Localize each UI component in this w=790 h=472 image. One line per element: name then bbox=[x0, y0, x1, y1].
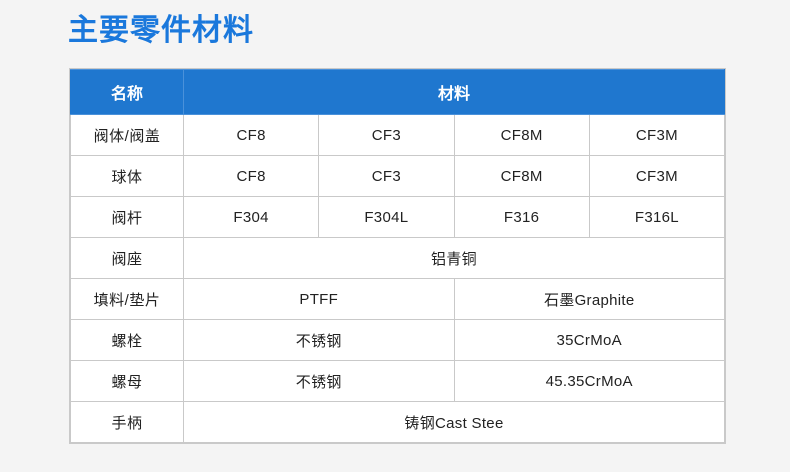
table-row: 阀座铝青铜 bbox=[71, 238, 725, 279]
table-row: 螺栓不锈钢35CrMoA bbox=[71, 320, 725, 361]
material-cell: PTFF bbox=[184, 279, 455, 320]
table-row: 球体CF8CF3CF8MCF3M bbox=[71, 156, 725, 197]
material-cell: F304 bbox=[184, 197, 319, 238]
material-cell: 铝青铜 bbox=[184, 238, 725, 279]
column-header-material: 材料 bbox=[184, 70, 725, 115]
material-cell: 35CrMoA bbox=[454, 320, 725, 361]
row-label: 手柄 bbox=[71, 402, 184, 443]
material-cell: F316L bbox=[589, 197, 724, 238]
material-cell: CF8M bbox=[454, 115, 589, 156]
material-cell: CF3 bbox=[319, 115, 454, 156]
page-title: 主要零件材料 bbox=[68, 12, 254, 50]
table-row: 填料/垫片PTFF石墨Graphite bbox=[71, 279, 725, 320]
material-cell: CF8 bbox=[184, 156, 319, 197]
row-label: 球体 bbox=[71, 156, 184, 197]
material-cell: CF3M bbox=[589, 156, 724, 197]
row-label: 阀体/阀盖 bbox=[71, 115, 184, 156]
material-cell: CF8M bbox=[454, 156, 589, 197]
row-label: 阀座 bbox=[71, 238, 184, 279]
material-cell: F304L bbox=[319, 197, 454, 238]
table-row: 螺母不锈钢45.35CrMoA bbox=[71, 361, 725, 402]
material-cell: 石墨Graphite bbox=[454, 279, 725, 320]
material-table: 名称 材料 阀体/阀盖CF8CF3CF8MCF3M球体CF8CF3CF8MCF3… bbox=[70, 69, 725, 443]
material-cell: F316 bbox=[454, 197, 589, 238]
table-header-row: 名称 材料 bbox=[71, 70, 725, 115]
material-cell: CF3M bbox=[589, 115, 724, 156]
row-label: 阀杆 bbox=[71, 197, 184, 238]
table-row: 手柄铸钢Cast Stee bbox=[71, 402, 725, 443]
material-cell: 不锈钢 bbox=[184, 320, 455, 361]
column-header-name: 名称 bbox=[71, 70, 184, 115]
row-label: 螺母 bbox=[71, 361, 184, 402]
material-cell: CF3 bbox=[319, 156, 454, 197]
row-label: 螺栓 bbox=[71, 320, 184, 361]
material-cell: 铸钢Cast Stee bbox=[184, 402, 725, 443]
table-row: 阀体/阀盖CF8CF3CF8MCF3M bbox=[71, 115, 725, 156]
material-cell: 不锈钢 bbox=[184, 361, 455, 402]
material-cell: 45.35CrMoA bbox=[454, 361, 725, 402]
table-row: 阀杆F304F304LF316F316L bbox=[71, 197, 725, 238]
page-root: 主要零件材料 名称 材料 阀体/阀盖CF8CF3CF8MCF3M球体CF8CF3… bbox=[0, 0, 790, 472]
table-body: 阀体/阀盖CF8CF3CF8MCF3M球体CF8CF3CF8MCF3M阀杆F30… bbox=[71, 115, 725, 443]
table-head: 名称 材料 bbox=[71, 70, 725, 115]
row-label: 填料/垫片 bbox=[71, 279, 184, 320]
material-cell: CF8 bbox=[184, 115, 319, 156]
